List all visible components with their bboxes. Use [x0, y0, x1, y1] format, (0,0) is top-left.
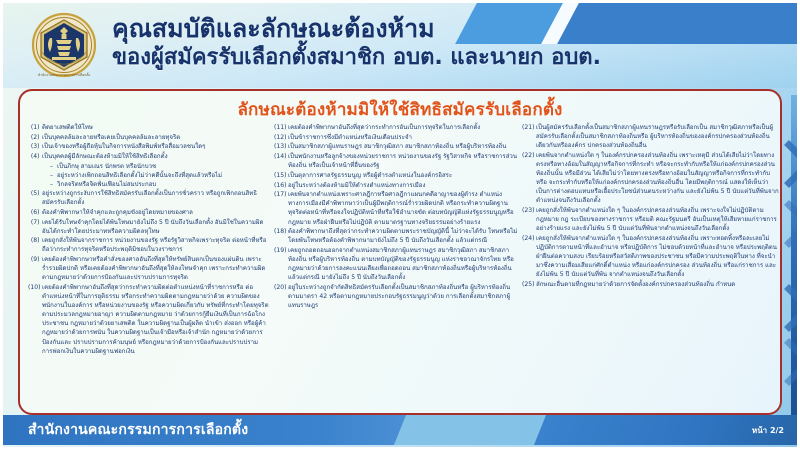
- list-item: (19)เคยถูกถอดถอนออกจากตำแหน่งสมาชิกสภาผู…: [270, 246, 518, 282]
- list-item: (25)ลักษณะอื่นตามที่กฎหมายว่าด้วยการจัดต…: [518, 280, 780, 289]
- list-sub-item: –วิกลจริตหรือจิตฟั่นเฟือนไม่สมประกอบ: [24, 180, 270, 189]
- right-edge-rail: [791, 95, 800, 415]
- list-item: (16)อยู่ในระหว่างต้องห้ามมิให้ดำรงตำแหน่…: [270, 181, 518, 190]
- list-sub-item-text: วิกลจริตหรือจิตฟั่นเฟือนไม่สมประกอบ: [57, 180, 270, 189]
- list-item: (21)เป็นผู้สมัครรับเลือกตั้งเป็นสมาชิกสภ…: [518, 123, 780, 150]
- list-item: (4)เป็นบุคคลผู้มีลักษณะต้องห้ามมิให้ใช้ส…: [24, 152, 270, 161]
- page-footer: สำนักงานคณะกรรมการการเลือกตั้ง หน้า 2/2: [0, 415, 800, 445]
- list-item-number: (20): [274, 283, 288, 310]
- list-item-number: (16): [274, 181, 288, 190]
- list-item: (9)เคยต้องคำพิพากษาหรือคำสั่งของศาลอันถึ…: [24, 255, 270, 282]
- list-item: (13)เป็นสมาชิกสภาผู้แทนราษฎร สมาชิกวุฒิส…: [270, 142, 518, 151]
- list-item-text: เคยถูกสั่งให้พ้นจากตำแหน่งใด ๆ ในองค์กรป…: [536, 206, 780, 233]
- list-sub-item: –เป็นภิกษุ สามเณร นักพรต หรือนักบวช: [24, 162, 270, 171]
- list-item-number: (14): [274, 152, 288, 170]
- list-item-number: (19): [274, 246, 288, 282]
- page-title-group: คุณสมบัติและลักษณะต้องห้าม ของผู้สมัครรั…: [112, 14, 601, 72]
- list-item-text: เคยถูกสั่งให้พ้นจากตำแหน่งใด ๆ ในองค์กรป…: [536, 234, 780, 279]
- list-item-text: ลักษณะอื่นตามที่กฎหมายว่าด้วยการจัดตั้งอ…: [536, 280, 780, 289]
- prohibited-characteristics-banner: ลักษณะต้องห้ามมิให้ใช้สิทธิสมัครรับเลือก…: [20, 96, 780, 123]
- list-item: (10)เคยต้องคำพิพากษาอันถึงที่สุดว่ากระทำ…: [24, 283, 270, 356]
- page-header: สำนักงานคณะกรรมการการเลือกตั้ง คุณสมบัติ…: [0, 0, 800, 88]
- list-item-number: (22): [522, 151, 536, 206]
- list-item-number: (12): [274, 133, 288, 142]
- list-item-number: (1): [28, 123, 42, 132]
- column-1: (1)ติดยาเสพติดให้โทษ(2)เป็นบุคคลล้มละลาย…: [24, 121, 270, 415]
- list-item: (3)เป็นเจ้าของหรือผู้ถือหุ้นในกิจการหนัง…: [24, 142, 270, 151]
- svg-text:สำนักงานคณะกรรมการการเลือกตั้ง: สำนักงานคณะกรรมการการเลือกตั้ง: [38, 72, 90, 77]
- election-commission-seal-icon: สำนักงานคณะกรรมการการเลือกตั้ง: [30, 12, 98, 82]
- bullet-dash-icon: –: [50, 180, 57, 189]
- list-item: (11)เคยต้องคำพิพากษาอันถึงที่สุดว่ากระทำ…: [270, 123, 518, 132]
- footer-page-number: หน้า 2/2: [752, 424, 784, 437]
- list-item-text: เป็นตุลาการศาลรัฐธรรมนูญ หรือผู้ดำรงตำแห…: [288, 171, 518, 180]
- list-item-text: เป็นข้าราชการซึ่งมีตำแหน่งหรือเงินเดือนป…: [288, 133, 518, 142]
- list-item-text: เคยต้องคำพิพากษาอันถึงที่สุดว่ากระทำความ…: [42, 283, 270, 356]
- list-item: (17)เคยพ้นจากตำแหน่งเพราะศาลฎีกาหรือศาลฎ…: [270, 190, 518, 226]
- list-item: (15)เป็นตุลาการศาลรัฐธรรมนูญ หรือผู้ดำรง…: [270, 171, 518, 180]
- list-item: (24)เคยถูกสั่งให้พ้นจากตำแหน่งใด ๆ ในองค…: [518, 234, 780, 279]
- list-item-text: อยู่ระหว่างถูกระงับการใช้สิทธิสมัครรับเล…: [42, 189, 270, 207]
- list-item-number: (6): [28, 208, 42, 217]
- list-item: (22)เคยพ้นจากตำแหน่งใด ๆ ในองค์กรปกครองส…: [518, 151, 780, 206]
- list-item-text: เคยต้องคำพิพากษาอันถึงที่สุดว่ากระทำการอ…: [288, 123, 518, 132]
- list-item-text: เคยพ้นจากตำแหน่งเพราะศาลฎีกาหรือศาลฎีกาแ…: [288, 190, 518, 226]
- list-item-text: ต้องคำพิพากษาให้จำคุกและถูกคุมขังอยู่โดย…: [42, 208, 270, 217]
- page-title-line-1: คุณสมบัติและลักษณะต้องห้าม: [112, 14, 601, 44]
- content-card: ลักษณะต้องห้ามมิให้ใช้สิทธิสมัครรับเลือก…: [18, 89, 782, 415]
- list-item-number: (23): [522, 206, 536, 233]
- list-sub-item-text: เป็นภิกษุ สามเณร นักพรต หรือนักบวช: [57, 162, 270, 171]
- list-item: (1)ติดยาเสพติดให้โทษ: [24, 123, 270, 132]
- list-item: (12)เป็นข้าราชการซึ่งมีตำแหน่งหรือเงินเด…: [270, 133, 518, 142]
- list-item-text: ติดยาเสพติดให้โทษ: [42, 123, 270, 132]
- bullet-dash-icon: –: [50, 162, 57, 171]
- list-item-number: (25): [522, 280, 536, 289]
- list-item: (6)ต้องคำพิพากษาให้จำคุกและถูกคุมขังอยู่…: [24, 208, 270, 217]
- list-item-text: เคยถูกถอดถอนออกจากตำแหน่งสมาชิกสภาผู้แทน…: [288, 246, 518, 282]
- list-item-number: (8): [28, 236, 42, 254]
- list-sub-item: –อยู่ระหว่างเพิกถอนสิทธิเลือกตั้งไม่ว่าค…: [24, 171, 270, 180]
- list-item-number: (5): [28, 189, 42, 207]
- list-item: (8)เคยถูกสั่งให้พ้นจากราชการ หน่วยงานของ…: [24, 236, 270, 254]
- list-item: (14)เป็นพนักงานหรือลูกจ้างของหน่วยราชการ…: [270, 152, 518, 170]
- list-item-text: เป็นบุคคลผู้มีลักษณะต้องห้ามมิให้ใช้สิทธ…: [42, 152, 270, 161]
- content-columns: (1)ติดยาเสพติดให้โทษ(2)เป็นบุคคลล้มละลาย…: [20, 121, 782, 415]
- list-item: (18)ต้องคำพิพากษาถึงที่สุดว่ากระทำความผิ…: [270, 227, 518, 245]
- list-item-number: (11): [274, 123, 288, 132]
- list-item-text: ต้องคำพิพากษาถึงที่สุดว่ากระทำความผิดตาม…: [288, 227, 518, 245]
- list-item-number: (4): [28, 152, 42, 161]
- list-item-text: เคยต้องคำพิพากษาหรือคำสั่งของศาลอันถึงที…: [42, 255, 270, 282]
- list-item-text: เป็นบุคคลล้มละลายหรือเคยเป็นบุคคลล้มละลา…: [42, 133, 270, 142]
- bullet-dash-icon: –: [50, 171, 57, 180]
- list-item-number: (2): [28, 133, 42, 142]
- list-item-text: เป็นสมาชิกสภาผู้แทนราษฎร สมาชิกวุฒิสภา ส…: [288, 142, 518, 151]
- column-2: (11)เคยต้องคำพิพากษาอันถึงที่สุดว่ากระทำ…: [270, 121, 518, 415]
- list-item-text: เป็นผู้สมัครรับเลือกตั้งเป็นสมาชิกสภาผู้…: [536, 123, 780, 150]
- list-item-text: อยู่ในระหว่างถูกจำกัดสิทธิสมัครรับเลือกต…: [288, 283, 518, 310]
- list-item-number: (3): [28, 142, 42, 151]
- list-item-text: เป็นเจ้าของหรือผู้ถือหุ้นในกิจการหนังสือ…: [42, 142, 270, 151]
- list-item-text: อยู่ในระหว่างต้องห้ามมิให้ดำรงตำแหน่งทาง…: [288, 181, 518, 190]
- list-item-text: เคยถูกสั่งให้พ้นจากราชการ หน่วยงานของรัฐ…: [42, 236, 270, 254]
- list-item-text: เคยได้รับโทษจำคุกโดยได้พ้นโทษมายังไม่ถึง…: [42, 218, 270, 236]
- list-item-number: (21): [522, 123, 536, 150]
- list-item-number: (24): [522, 234, 536, 279]
- footer-organization-name: สำนักงานคณะกรรมการการเลือกตั้ง: [28, 419, 248, 441]
- list-item-number: (13): [274, 142, 288, 151]
- page-title-line-2: ของผู้สมัครรับเลือกตั้งสมาชิก อบต. และนา…: [112, 44, 601, 72]
- list-item-number: (10): [28, 283, 42, 356]
- list-item-number: (7): [28, 218, 42, 236]
- list-item-number: (15): [274, 171, 288, 180]
- list-item-text: เป็นพนักงานหรือลูกจ้างของหน่วยราชการ หน่…: [288, 152, 518, 170]
- list-item-number: (9): [28, 255, 42, 282]
- list-item: (20)อยู่ในระหว่างถูกจำกัดสิทธิสมัครรับเล…: [270, 283, 518, 310]
- list-item: (5)อยู่ระหว่างถูกระงับการใช้สิทธิสมัครรั…: [24, 189, 270, 207]
- list-item: (23)เคยถูกสั่งให้พ้นจากตำแหน่งใด ๆ ในองค…: [518, 206, 780, 233]
- list-item-text: เคยพ้นจากตำแหน่งใด ๆ ในองค์กรปกครองส่วนท…: [536, 151, 780, 206]
- list-sub-item-text: อยู่ระหว่างเพิกถอนสิทธิเลือกตั้งไม่ว่าคด…: [57, 171, 270, 180]
- column-3: (21)เป็นผู้สมัครรับเลือกตั้งเป็นสมาชิกสภ…: [518, 121, 780, 415]
- poster-root: สำนักงานคณะกรรมการการเลือกตั้ง คุณสมบัติ…: [0, 0, 800, 450]
- list-item-number: (18): [274, 227, 288, 245]
- list-item: (2)เป็นบุคคลล้มละลายหรือเคยเป็นบุคคลล้มล…: [24, 133, 270, 142]
- list-item: (7)เคยได้รับโทษจำคุกโดยได้พ้นโทษมายังไม่…: [24, 218, 270, 236]
- list-item-number: (17): [274, 190, 288, 226]
